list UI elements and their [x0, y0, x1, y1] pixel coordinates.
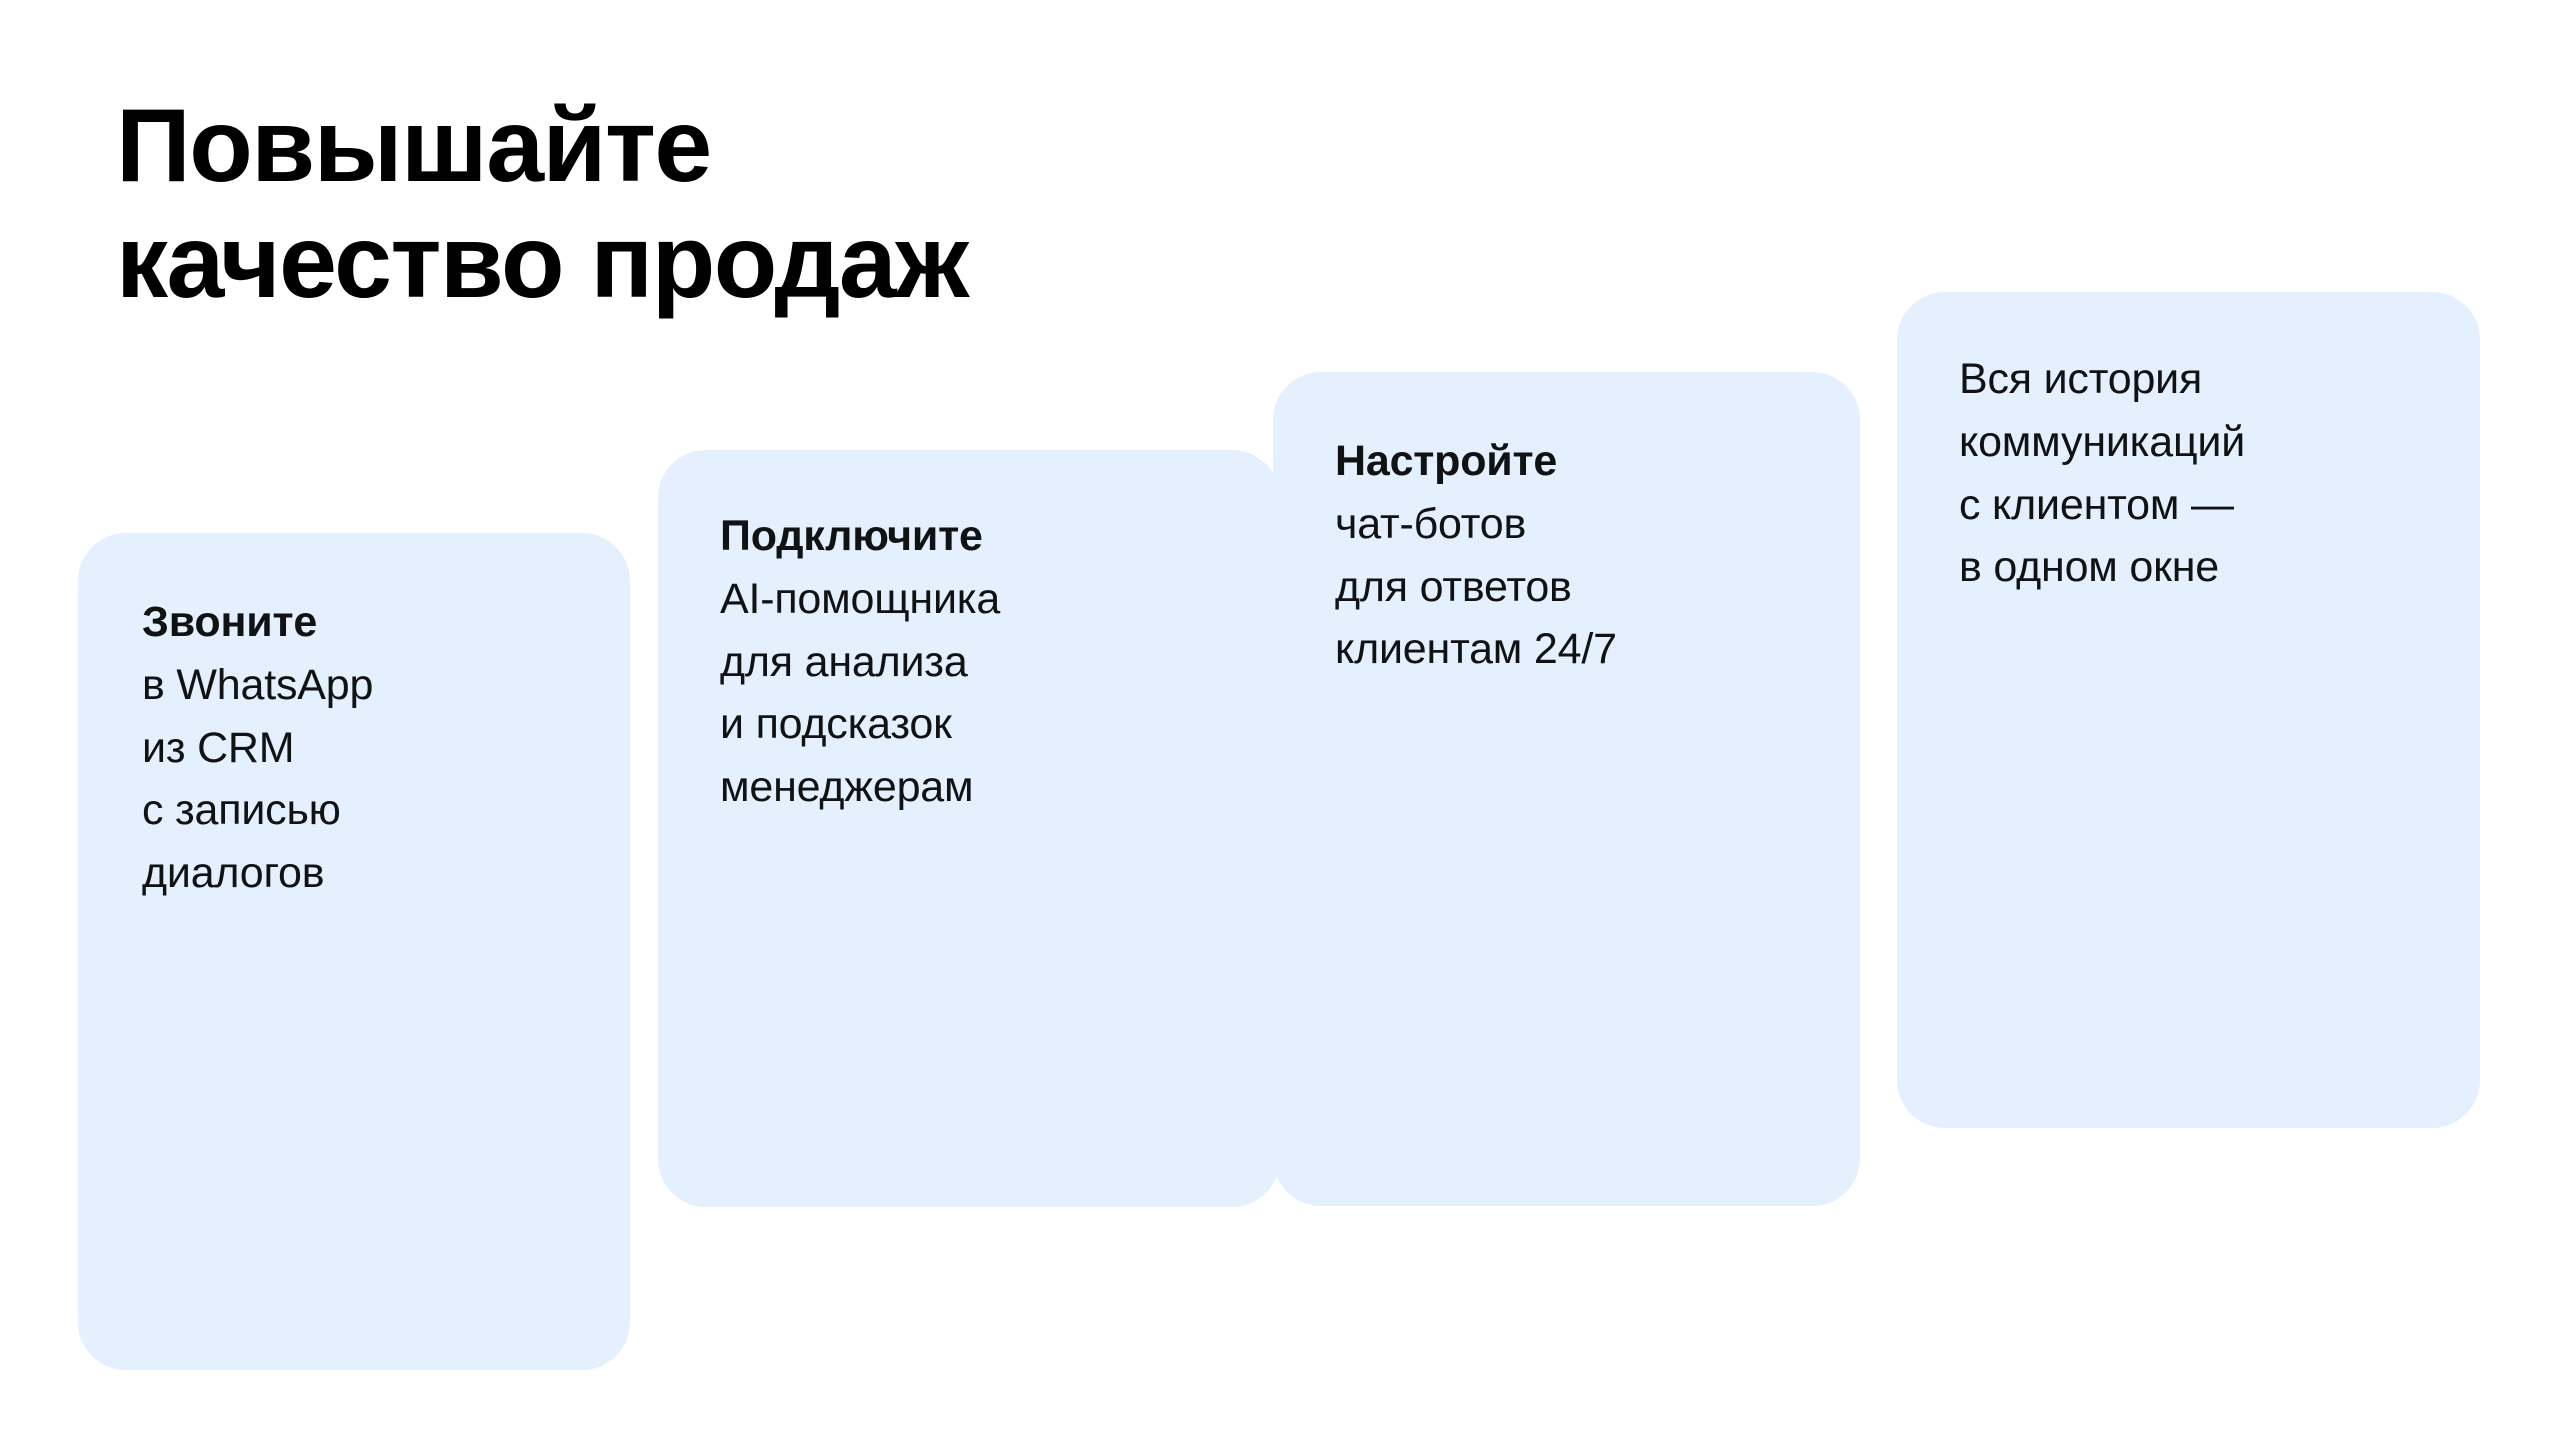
- card-text-block: Вся история коммуникаций с клиентом — в …: [1959, 348, 2245, 599]
- card-body: чат-ботов для ответов клиентам 24/7: [1335, 493, 1617, 681]
- feature-card-call-whatsapp-crm[interactable]: Звоните в WhatsApp из CRM с записью диал…: [78, 533, 630, 1370]
- card-lead: Звоните: [142, 591, 373, 654]
- card-body: в WhatsApp из CRM с записью диалогов: [142, 654, 373, 905]
- card-text-block: Подключите AI-помощника для анализа и по…: [720, 505, 1000, 819]
- card-lead: Подключите: [720, 505, 1000, 568]
- card-text-block: Настройте чат-ботов для ответов клиентам…: [1335, 430, 1617, 681]
- card-lead: Настройте: [1335, 430, 1617, 493]
- feature-card-ai-assistant[interactable]: Подключите AI-помощника для анализа и по…: [658, 450, 1280, 1207]
- page-title: Повышайте качество продаж: [116, 88, 1316, 321]
- card-text-block: Звоните в WhatsApp из CRM с записью диал…: [142, 591, 373, 905]
- feature-card-communication-history[interactable]: Вся история коммуникаций с клиентом — в …: [1897, 292, 2480, 1128]
- card-body: AI-помощника для анализа и подсказок мен…: [720, 568, 1000, 819]
- card-body: Вся история коммуникаций с клиентом — в …: [1959, 348, 2245, 599]
- feature-card-chatbots[interactable]: Настройте чат-ботов для ответов клиентам…: [1273, 372, 1860, 1206]
